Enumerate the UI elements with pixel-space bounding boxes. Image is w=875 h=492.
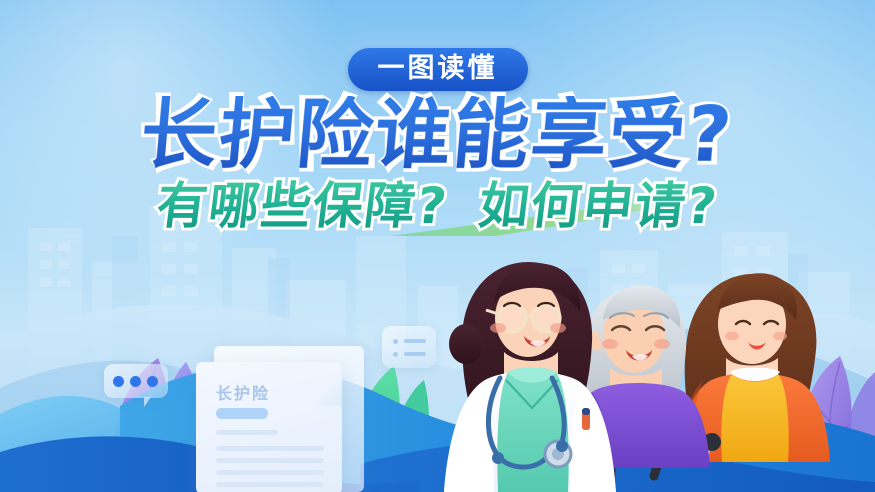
- document-card[interactable]: 长护险: [196, 352, 368, 492]
- document-text-line: [216, 470, 324, 475]
- document-text-line: [216, 482, 324, 487]
- chat-dot: [147, 376, 158, 387]
- header-badge-container: 一图读懂: [0, 46, 875, 93]
- list-bullet-dot: [393, 352, 398, 357]
- list-bar: [404, 339, 426, 343]
- list-icon[interactable]: [382, 326, 436, 368]
- document-title: 长护险: [216, 380, 270, 404]
- document-text-line: [216, 430, 278, 435]
- chat-dot: [113, 376, 124, 387]
- chat-dot: [130, 376, 141, 387]
- main-title: 长护险谁能享受?: [138, 96, 737, 174]
- subtitle-part2: 如何申请?: [476, 180, 721, 233]
- document-folded-corner: [308, 372, 342, 406]
- badge-glow: 一图读懂: [346, 46, 530, 93]
- subtitle-part1: 有哪些保障?: [154, 180, 451, 233]
- document-text-line: [216, 446, 324, 451]
- document-front-sheet: 长护险: [196, 362, 342, 492]
- chat-bubble-icon[interactable]: [104, 364, 168, 398]
- document-text-line: [216, 458, 324, 463]
- infographic-poster: 长护险 一图读懂 长护险谁能享受? 长护险谁能享受?: [0, 0, 875, 492]
- list-bullet-dot: [393, 339, 398, 344]
- title-block: 长护险谁能享受? 长护险谁能享受? 有哪些保障? 有哪些保障? 如何申请? 如何…: [0, 96, 875, 232]
- document-highlight-pill: [216, 408, 268, 419]
- people-illustration: [440, 232, 875, 492]
- badge-label[interactable]: 一图读懂: [348, 48, 528, 91]
- list-bar: [404, 352, 426, 356]
